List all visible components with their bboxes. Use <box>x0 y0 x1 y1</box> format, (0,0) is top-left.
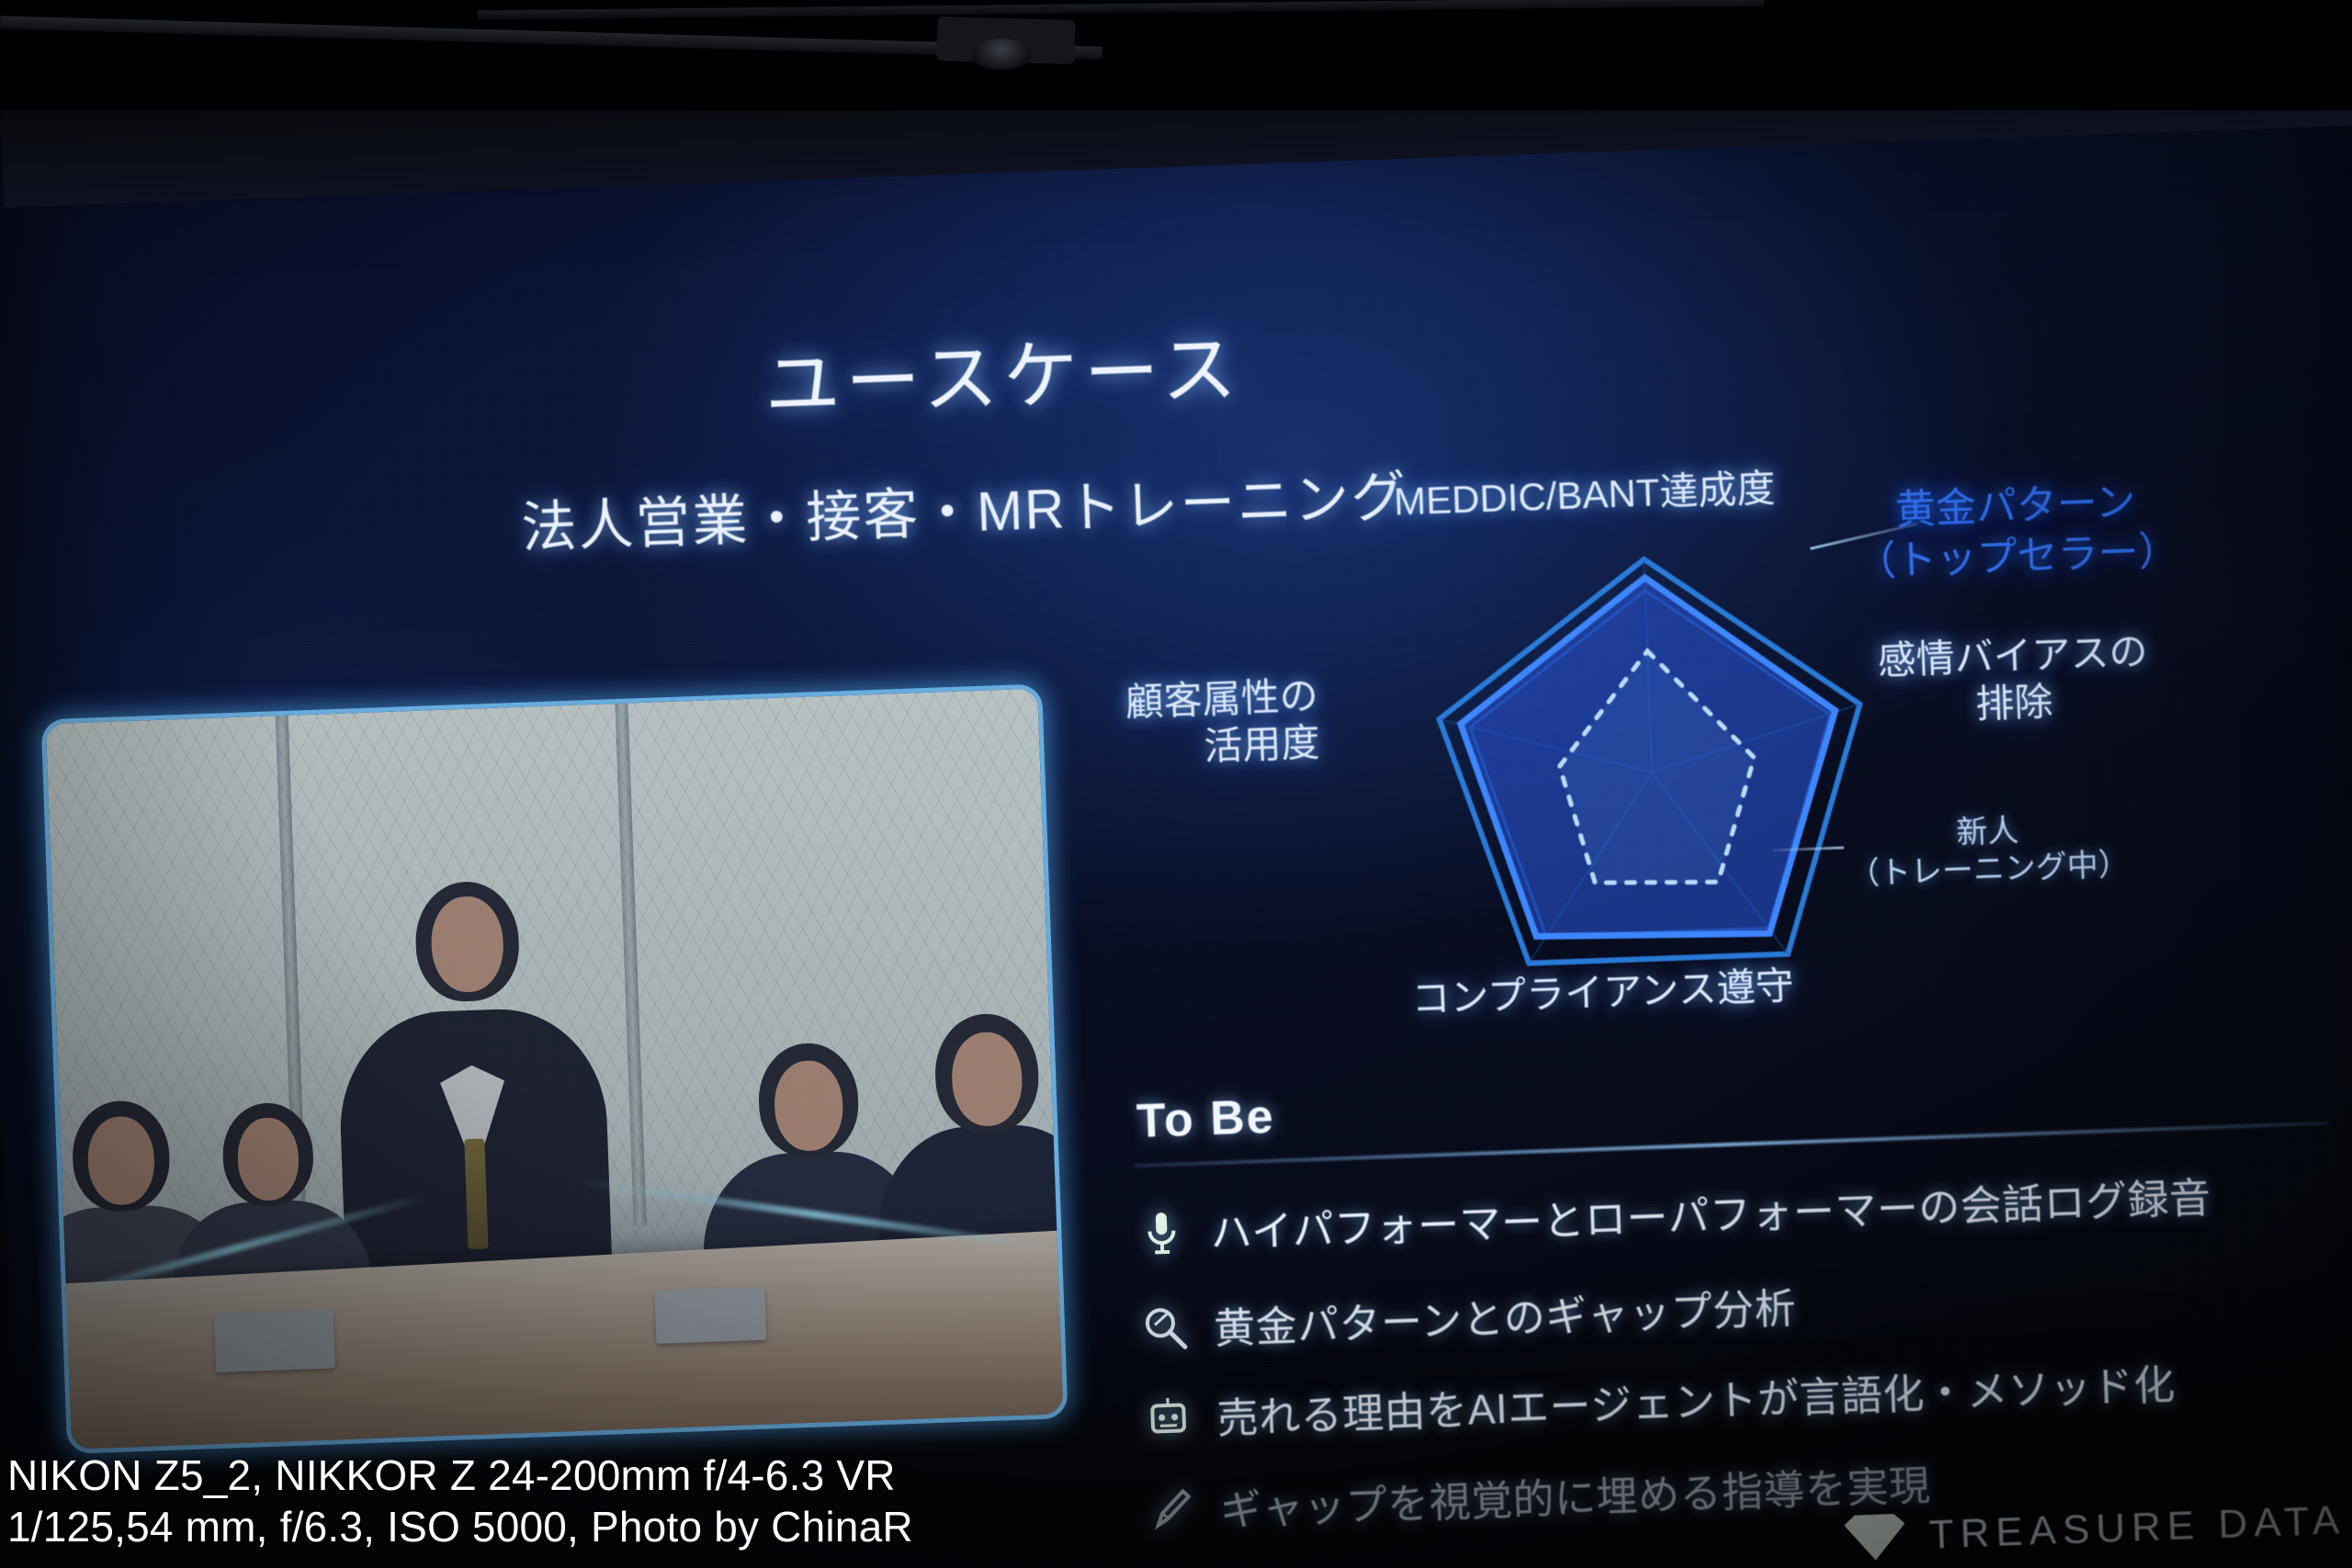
diamond-icon <box>1844 1513 1906 1561</box>
spotlight-icon <box>972 39 1031 70</box>
list-item-label: ギャップを視覚的に埋める指導を実現 <box>1219 1451 1931 1537</box>
pen-icon <box>1146 1483 1197 1534</box>
search-gap-icon <box>1139 1302 1191 1353</box>
ceiling-rail-secondary <box>478 0 1764 19</box>
radar-legend-golden-pattern: 黄金パターン （トップセラー） <box>1853 476 2180 588</box>
logo-text: TREASURE DATA <box>1928 1497 2346 1558</box>
radar-axis-label-line1: 感情バイアスの <box>1877 627 2149 684</box>
to-be-heading: To Be <box>1136 1089 1276 1149</box>
list-item: ギャップを視覚的に埋める指導を実現 <box>1146 1451 1931 1539</box>
radar-axis-label-bias-removal: 感情バイアスの 排除 <box>1877 627 2150 731</box>
radar-axis-label-customer-attribute: 顧客属性の 活用度 <box>1125 672 1321 773</box>
microphone-icon <box>1136 1206 1187 1258</box>
caption-line-1: NIKON Z5_2, NIKKOR Z 24-200mm f/4-6.3 VR <box>7 1450 913 1501</box>
radar-chart <box>1414 535 1890 1010</box>
radar-axis-label-line2: 活用度 <box>1126 719 1321 773</box>
meeting-photo-panel <box>41 683 1069 1453</box>
ceiling-area <box>0 0 2352 110</box>
camera-exif-caption: NIKON Z5_2, NIKKOR Z 24-200mm f/4-6.3 VR… <box>7 1450 913 1552</box>
radar-axis-label-line2: 排除 <box>1879 675 2151 732</box>
photo-of-projected-slide: ユースケース 法人営業・接客・MRトレーニング <box>0 0 2352 1568</box>
photo-color-overlay <box>46 689 1064 1450</box>
radar-legend-newcomer: 新人 （トレーニング中） <box>1847 808 2131 895</box>
page-title: ユースケース <box>763 307 1244 434</box>
projection-screen: ユースケース 法人営業・接客・MRトレーニング <box>0 1 2352 1465</box>
radar-axis-label-line1: 顧客属性の <box>1125 672 1319 727</box>
caption-line-2: 1/125,54 mm, f/6.3, ISO 5000, Photo by C… <box>7 1501 913 1552</box>
robot-icon <box>1143 1392 1194 1443</box>
meeting-photo <box>46 689 1064 1450</box>
